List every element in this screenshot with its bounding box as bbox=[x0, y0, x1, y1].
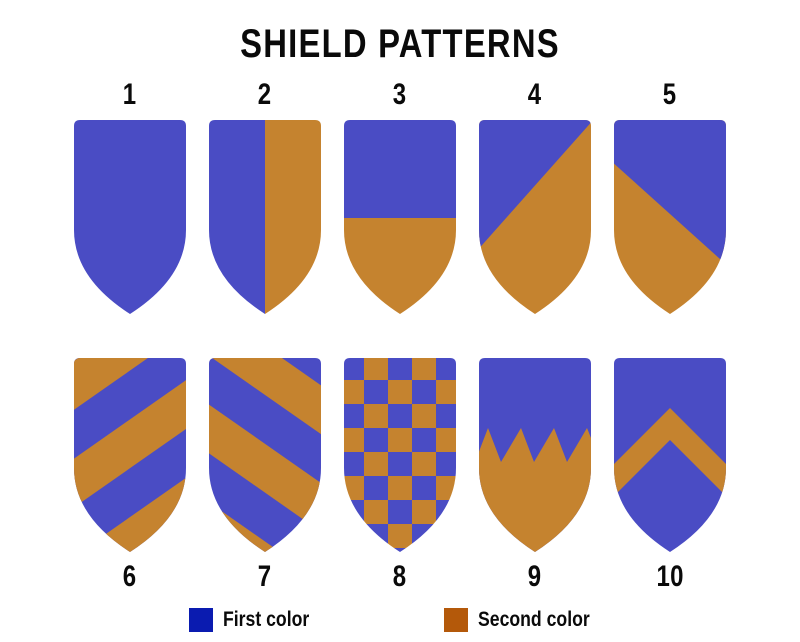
shield-number-9: 9 bbox=[528, 560, 542, 594]
shield-2-per-pale[interactable] bbox=[205, 118, 325, 318]
shield-number-6: 6 bbox=[123, 560, 137, 594]
shield-cell-8[interactable]: 8 bbox=[333, 356, 468, 594]
shield-9-per-fess-dancetty[interactable] bbox=[475, 356, 595, 556]
shield-5-per-bend-sinister[interactable] bbox=[610, 118, 730, 318]
shield-cell-2[interactable]: 2 bbox=[198, 78, 333, 318]
row-spacer bbox=[0, 318, 800, 356]
shield-10-chevron[interactable] bbox=[610, 356, 730, 556]
shield-4-per-bend[interactable] bbox=[475, 118, 595, 318]
shield-number-1: 1 bbox=[123, 78, 137, 112]
shield-number-5: 5 bbox=[663, 78, 677, 112]
shield-grid: 1 2 bbox=[0, 78, 800, 594]
shield-3-per-fess[interactable] bbox=[340, 118, 460, 318]
legend: First color Second color bbox=[0, 608, 800, 632]
shield-cell-6[interactable]: 6 bbox=[63, 356, 198, 594]
shield-cell-9[interactable]: 9 bbox=[468, 356, 603, 594]
legend-swatch-second-color bbox=[444, 608, 468, 632]
shield-number-2: 2 bbox=[258, 78, 272, 112]
shield-cell-5[interactable]: 5 bbox=[603, 78, 738, 318]
shield-row-top: 1 2 bbox=[0, 78, 800, 318]
legend-entry-first-color: First color bbox=[189, 608, 326, 632]
shield-cell-10[interactable]: 10 bbox=[603, 356, 738, 594]
page-title: SHIELD PATTERNS bbox=[72, 0, 728, 68]
shield-7-bendy[interactable] bbox=[205, 356, 325, 556]
shield-cell-1[interactable]: 1 bbox=[63, 78, 198, 318]
shield-8-checky[interactable] bbox=[340, 356, 460, 556]
shield-number-3: 3 bbox=[393, 78, 407, 112]
legend-label-second-color: Second color bbox=[478, 608, 590, 632]
shield-number-4: 4 bbox=[528, 78, 542, 112]
shield-row-bottom: 6 bbox=[0, 356, 800, 594]
shield-cell-4[interactable]: 4 bbox=[468, 78, 603, 318]
shield-cell-7[interactable]: 7 bbox=[198, 356, 333, 594]
shield-number-8: 8 bbox=[393, 560, 407, 594]
shield-1-plain[interactable] bbox=[70, 118, 190, 318]
legend-label-first-color: First color bbox=[223, 608, 309, 632]
shield-number-10: 10 bbox=[656, 560, 684, 594]
legend-swatch-first-color bbox=[189, 608, 213, 632]
shield-cell-3[interactable]: 3 bbox=[333, 78, 468, 318]
shield-number-7: 7 bbox=[258, 560, 272, 594]
legend-entry-second-color: Second color bbox=[444, 608, 611, 632]
shield-6-bendy-sinister[interactable] bbox=[70, 356, 190, 556]
